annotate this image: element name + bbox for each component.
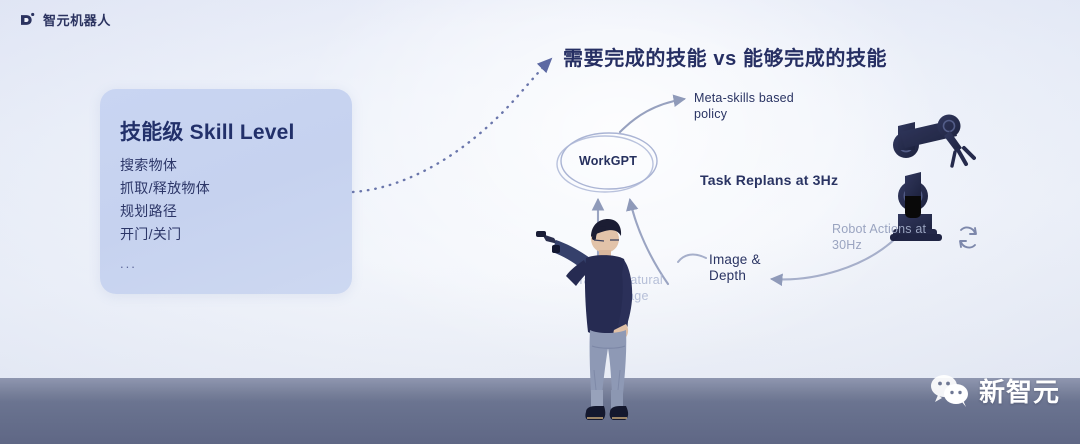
list-item: 抓取/释放物体 [120, 177, 210, 200]
wechat-icon [929, 374, 971, 408]
slide-headline: 需要完成的技能 vs 能够完成的技能 [563, 42, 887, 71]
watermark-text: 新智元 [979, 372, 1060, 409]
task-replans-label: Task Replans at 3Hz [700, 172, 838, 188]
skill-card-list: 搜索物体 抓取/释放物体 规划路径 开门/关门 ... [120, 154, 210, 275]
skill-card-title: 技能级 Skill Level [120, 116, 295, 146]
list-item-ellipsis: ... [120, 246, 210, 275]
slide-screenshot: 智元机器人 技能级 Skill Level 搜索物体 抓取/释放物体 规划路径 … [0, 0, 1080, 444]
workgpt-node-label: WorkGPT [569, 154, 647, 168]
brand-name: 智元机器人 [43, 10, 111, 29]
list-item: 搜索物体 [120, 154, 210, 177]
meta-skills-label: Meta-skills based policy [694, 90, 794, 122]
robot-actions-label: Robot Actions at 30Hz [832, 221, 926, 253]
watermark: 新智元 [929, 372, 1060, 409]
list-item: 规划路径 [120, 200, 210, 223]
image-depth-label: Image & Depth [709, 252, 761, 284]
brand-logo: 智元机器人 [18, 10, 111, 29]
presenter-figure [534, 214, 664, 430]
skill-level-card: 技能级 Skill Level 搜索物体 抓取/释放物体 规划路径 开门/关门 … [100, 89, 352, 294]
agibot-logo-icon [18, 11, 36, 29]
list-item: 开门/关门 [120, 223, 210, 246]
